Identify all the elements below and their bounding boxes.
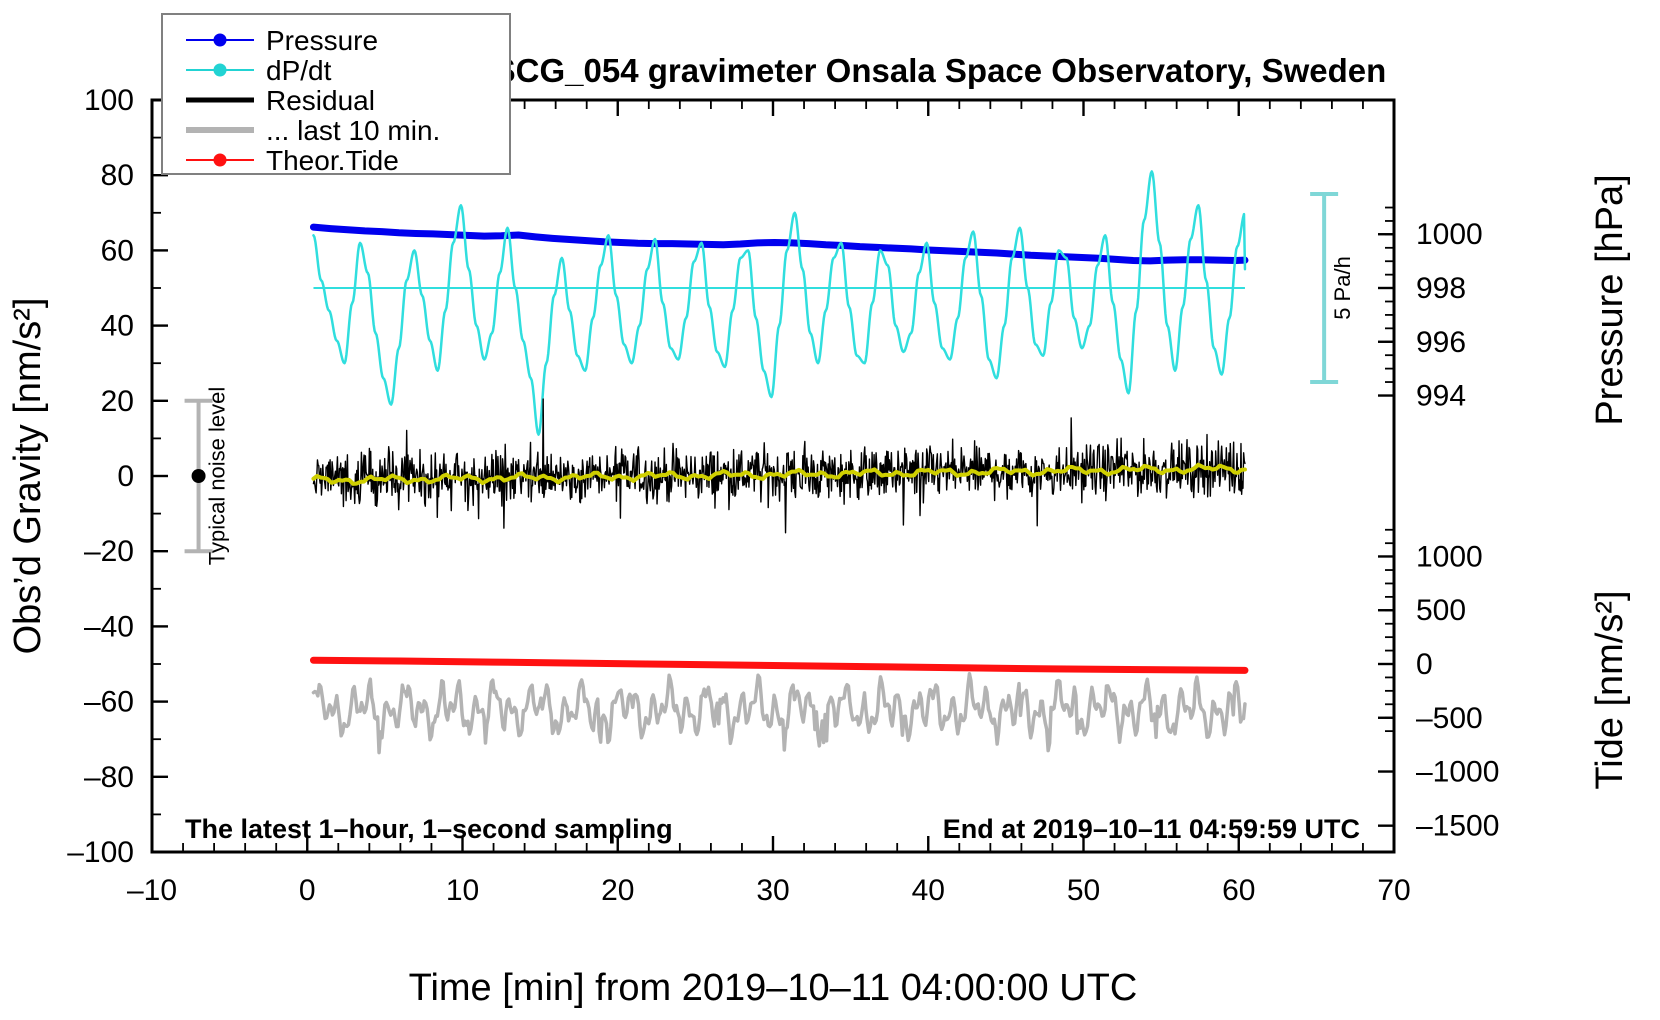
- pressure-tick-label: 1000: [1416, 218, 1483, 251]
- noise-level-label: Typical noise level: [205, 387, 230, 566]
- legend-marker: [214, 64, 227, 77]
- pressure-tick-label: 994: [1416, 380, 1466, 413]
- dpdt-scale-label: 5 Pa/h: [1330, 256, 1355, 320]
- y-tick-label: 0: [117, 460, 134, 493]
- pressure-tick-label: 998: [1416, 272, 1466, 305]
- tide-tick-label: 0: [1416, 648, 1433, 681]
- legend-label: dP/dt: [266, 55, 332, 86]
- x-tick-label: –10: [127, 874, 177, 907]
- y-axis-right-tide: 10005000–500–1000–1500: [1378, 530, 1499, 843]
- tide-tick-label: 500: [1416, 594, 1466, 627]
- y-tick-label: 80: [101, 159, 134, 192]
- x-tick-label: 60: [1222, 874, 1255, 907]
- footer-left-text: The latest 1–hour, 1–second sampling: [185, 814, 673, 844]
- data-series-group: [313, 171, 1245, 752]
- tide-tick-label: –1500: [1416, 810, 1499, 843]
- chart-root: –10010203040506070 –100–80–60–40–2002040…: [0, 0, 1660, 1020]
- chart-title: SCG_054 gravimeter Onsala Space Observat…: [494, 52, 1387, 89]
- y-tick-label: –40: [84, 610, 134, 643]
- y-tick-label: 100: [84, 84, 134, 117]
- series-theor-tide: [313, 660, 1245, 670]
- series-residual: [313, 399, 1245, 533]
- legend: PressuredP/dtResidual... last 10 min.The…: [162, 14, 510, 176]
- legend-label: Theor.Tide: [266, 145, 399, 176]
- x-axis-title: Time [min] from 2019–10–11 04:00:00 UTC: [409, 967, 1138, 1009]
- y-tick-label: –60: [84, 686, 134, 719]
- footer-right-text: End at 2019–10–11 04:59:59 UTC: [943, 814, 1360, 844]
- x-tick-label: 10: [446, 874, 479, 907]
- y-axis-right-tide-title: Tide [nm/s²]: [1589, 590, 1631, 789]
- y-tick-label: –20: [84, 535, 134, 568]
- y-tick-label: 20: [101, 385, 134, 418]
- series-dpdt: [313, 171, 1245, 434]
- series-last10min: [313, 674, 1245, 753]
- y-axis-left-title: Obs’d Gravity [nm/s²]: [7, 298, 49, 655]
- annotations-group: Typical noise level5 Pa/h: [185, 194, 1356, 565]
- legend-label: Residual: [266, 85, 375, 116]
- x-tick-label: 40: [912, 874, 945, 907]
- legend-label: Pressure: [266, 25, 378, 56]
- tide-tick-label: –500: [1416, 702, 1483, 735]
- y-tick-label: –80: [84, 761, 134, 794]
- legend-label: ... last 10 min.: [266, 115, 440, 146]
- x-tick-label: 50: [1067, 874, 1100, 907]
- x-tick-label: 30: [756, 874, 789, 907]
- tide-tick-label: –1000: [1416, 756, 1499, 789]
- y-tick-label: –100: [67, 836, 134, 869]
- gravimeter-chart: –10010203040506070 –100–80–60–40–2002040…: [0, 0, 1660, 1020]
- noise-level-dot: [192, 469, 206, 483]
- pressure-tick-label: 996: [1416, 326, 1466, 359]
- legend-marker: [214, 154, 227, 167]
- x-tick-label: 0: [299, 874, 316, 907]
- y-tick-label: 40: [101, 310, 134, 343]
- tide-tick-label: 1000: [1416, 540, 1483, 573]
- legend-marker: [214, 34, 227, 47]
- x-tick-label: 20: [601, 874, 634, 907]
- y-axis-right-pressure-title: Pressure [hPa]: [1589, 174, 1631, 425]
- y-tick-label: 60: [101, 234, 134, 267]
- x-tick-label: 70: [1377, 874, 1410, 907]
